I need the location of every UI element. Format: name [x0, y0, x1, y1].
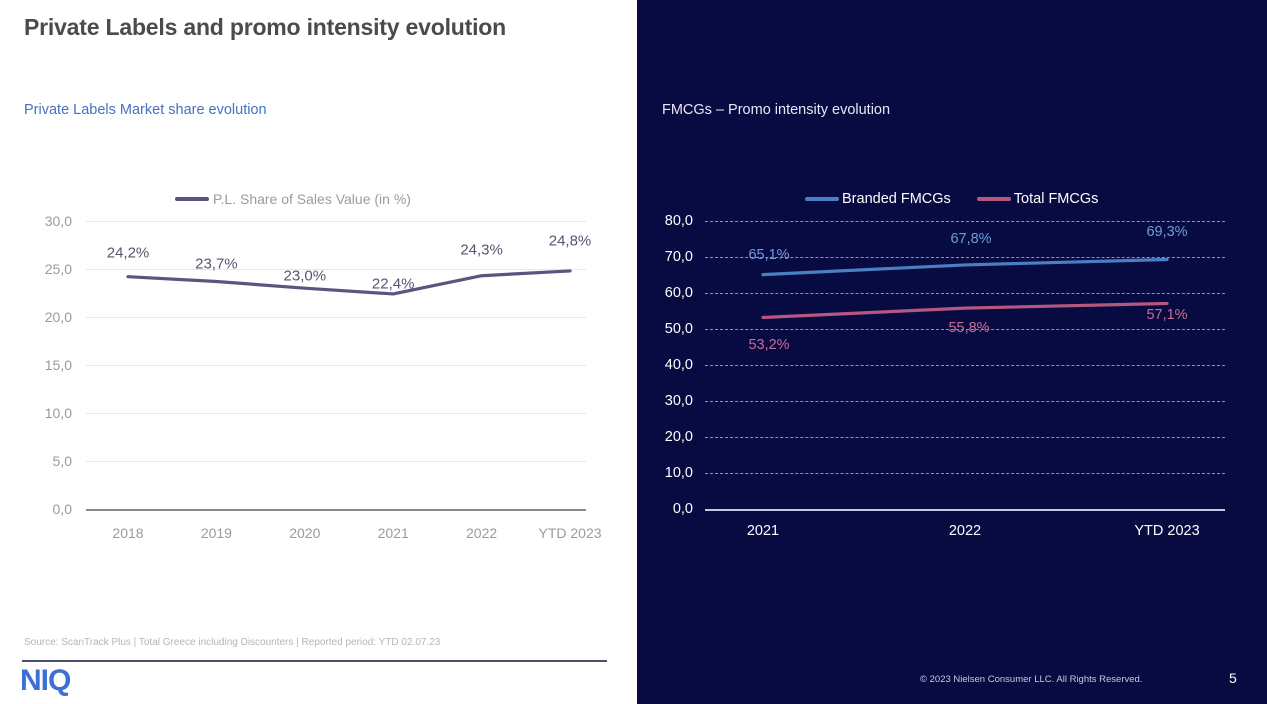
copyright-note: © 2023 Nielsen Consumer LLC. All Rights …	[920, 674, 1142, 685]
right-chart-subtitle: FMCGs – Promo intensity evolution	[662, 102, 890, 118]
data-point-label: 23,7%	[195, 256, 238, 273]
footer-divider	[22, 660, 607, 662]
data-point-label: 65,1%	[748, 247, 789, 263]
data-point-label: 24,2%	[107, 244, 150, 261]
slide: Private Labels and promo intensity evolu…	[0, 0, 1267, 704]
axis-baseline	[705, 509, 1225, 511]
x-axis-tick-label: 2021	[378, 525, 409, 541]
x-axis-tick-label: 2018	[112, 525, 143, 541]
data-point-label: 23,0%	[284, 268, 327, 285]
y-axis-tick-label: 30,0	[45, 213, 72, 229]
left-y-axis-labels: 0,05,010,015,020,025,030,0	[0, 221, 80, 509]
y-axis-tick-label: 5,0	[53, 453, 72, 469]
y-axis-tick-label: 25,0	[45, 261, 72, 277]
y-axis-tick-label: 80,0	[665, 213, 693, 229]
legend-line-marker-pl-share	[175, 197, 209, 201]
x-axis-tick-label: YTD 2023	[1134, 523, 1199, 539]
y-axis-tick-label: 60,0	[665, 285, 693, 301]
legend-line-marker-branded-fmcgs	[805, 197, 839, 201]
x-axis-tick-label: YTD 2023	[538, 525, 601, 541]
right-panel: FMCGs – Promo intensity evolution Brande…	[637, 0, 1267, 704]
data-point-label: 53,2%	[748, 337, 789, 353]
axis-baseline	[86, 509, 586, 511]
right-chart-legend: Branded FMCGs Total FMCGs	[805, 191, 1098, 207]
y-axis-tick-label: 15,0	[45, 357, 72, 373]
left-chart-subtitle: Private Labels Market share evolution	[24, 102, 267, 118]
promo-intensity-chart: Branded FMCGs Total FMCGs 0,010,020,030,…	[637, 185, 1267, 545]
page-number: 5	[1229, 670, 1237, 686]
y-axis-tick-label: 10,0	[665, 465, 693, 481]
x-axis-tick-label: 2021	[747, 523, 779, 539]
data-point-label: 57,1%	[1146, 307, 1187, 323]
x-axis-tick-label: 2020	[289, 525, 320, 541]
y-axis-tick-label: 50,0	[665, 321, 693, 337]
legend-label-pl-share: P.L. Share of Sales Value (in %)	[213, 191, 411, 207]
legend-label-branded-fmcgs: Branded FMCGs	[842, 191, 951, 207]
y-axis-tick-label: 20,0	[45, 309, 72, 325]
y-axis-tick-label: 70,0	[665, 249, 693, 265]
left-chart-legend: P.L. Share of Sales Value (in %)	[175, 191, 411, 207]
x-axis-tick-label: 2019	[201, 525, 232, 541]
data-point-label: 69,3%	[1146, 224, 1187, 240]
y-axis-tick-label: 0,0	[53, 501, 72, 517]
private-labels-chart: P.L. Share of Sales Value (in %) 0,05,01…	[0, 185, 637, 545]
left-data-labels: 24,2%23,7%23,0%22,4%24,3%24,8%	[86, 221, 586, 509]
data-point-label: 22,4%	[372, 275, 415, 292]
niq-logo: NIQ	[20, 666, 70, 696]
y-axis-tick-label: 40,0	[665, 357, 693, 373]
legend-label-total-fmcgs: Total FMCGs	[1014, 191, 1099, 207]
data-point-label: 24,8%	[549, 232, 592, 249]
right-y-axis-labels: 0,010,020,030,040,050,060,070,080,0	[637, 221, 699, 509]
legend-line-marker-total-fmcgs	[977, 197, 1011, 201]
x-axis-tick-label: 2022	[949, 523, 981, 539]
page-title: Private Labels and promo intensity evolu…	[24, 14, 506, 41]
data-point-label: 24,3%	[460, 241, 503, 258]
data-point-label: 67,8%	[950, 231, 991, 247]
y-axis-tick-label: 20,0	[665, 429, 693, 445]
x-axis-tick-label: 2022	[466, 525, 497, 541]
data-point-label: 55,8%	[948, 320, 989, 336]
y-axis-tick-label: 30,0	[665, 393, 693, 409]
y-axis-tick-label: 10,0	[45, 405, 72, 421]
right-data-labels: 65,1%67,8%69,3%53,2%55,8%57,1%	[705, 221, 1225, 509]
y-axis-tick-label: 0,0	[673, 501, 693, 517]
left-panel: Private Labels and promo intensity evolu…	[0, 0, 637, 704]
source-note: Source: ScanTrack Plus | Total Greece in…	[24, 637, 440, 648]
legend-item-total-fmcgs: Total FMCGs	[977, 191, 1099, 207]
legend-item-branded-fmcgs: Branded FMCGs	[805, 191, 951, 207]
